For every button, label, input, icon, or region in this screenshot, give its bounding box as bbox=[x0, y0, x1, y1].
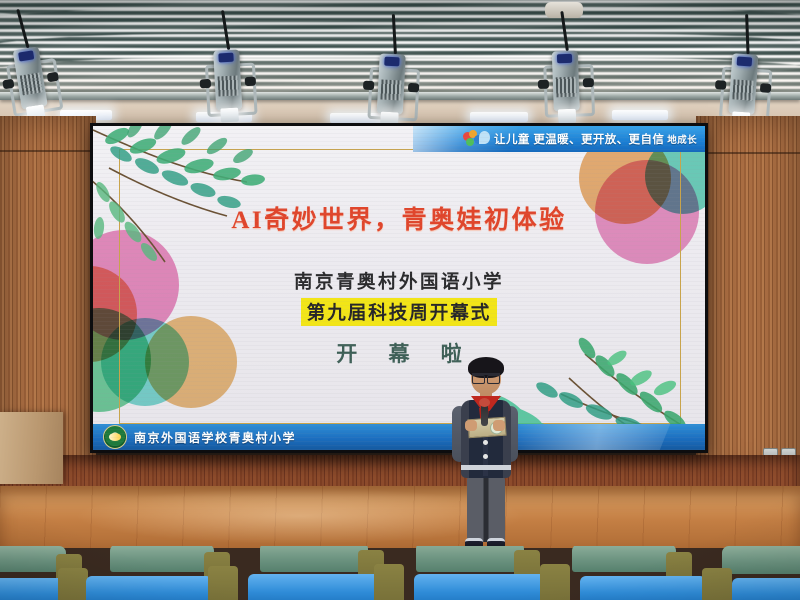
side-podium bbox=[0, 412, 63, 484]
seat bbox=[540, 564, 570, 600]
banner-slogan: 让儿童 更温暖、更开放、更自信 地成长 bbox=[494, 131, 697, 147]
seat bbox=[110, 546, 214, 572]
seat bbox=[374, 564, 404, 600]
ceiling-panel-light bbox=[612, 110, 668, 120]
slide-subtitle-highlight: 第九届科技周开幕式 bbox=[301, 298, 498, 326]
glasses-icon bbox=[472, 373, 500, 382]
seat bbox=[580, 576, 706, 600]
light-display-icon bbox=[218, 53, 233, 63]
slide-opening-text: 开 幕 啦 bbox=[93, 338, 705, 368]
light-knob bbox=[2, 79, 14, 90]
watercolor-leaves-top-left bbox=[93, 126, 317, 270]
seat bbox=[572, 546, 676, 572]
seat bbox=[58, 568, 88, 600]
student-presenter bbox=[437, 360, 533, 555]
slide-school-name: 南京青奥村外国语小学 bbox=[93, 268, 705, 294]
seat bbox=[208, 566, 238, 600]
audience-seating bbox=[0, 546, 800, 600]
slide-top-banner: 让儿童 更温暖、更开放、更自信 地成长 bbox=[413, 126, 705, 152]
school-full-name: 南京外国语学校青奥村小学 bbox=[134, 429, 296, 446]
microphone bbox=[481, 404, 488, 426]
colored-circles-logo-icon bbox=[463, 130, 489, 148]
seat bbox=[260, 546, 368, 572]
light-display-icon bbox=[557, 54, 572, 64]
slide-main-title: AI奇妙世界，青奥娃初体验 bbox=[93, 200, 705, 236]
school-emblem-icon bbox=[103, 425, 127, 449]
student-jacket-stripe bbox=[461, 465, 511, 470]
student-hand-right bbox=[493, 420, 505, 431]
projection-screen[interactable]: 让儿童 更温暖、更开放、更自信 地成长 AI奇妙世界，青奥娃初体验 南京青奥村外… bbox=[90, 123, 708, 453]
seat bbox=[416, 546, 524, 572]
slide-bottom-banner: 南京外国语学校青奥村小学 bbox=[93, 424, 705, 450]
auditorium-photo: 让儿童 更温暖、更开放、更自信 地成长 AI奇妙世界，青奥娃初体验 南京青奥村外… bbox=[0, 0, 800, 600]
slide-content: 让儿童 更温暖、更开放、更自信 地成长 AI奇妙世界，青奥娃初体验 南京青奥村外… bbox=[93, 126, 705, 450]
light-display-icon bbox=[384, 57, 399, 67]
seat bbox=[414, 574, 546, 600]
student-hand-left bbox=[465, 420, 477, 431]
seat bbox=[732, 578, 800, 600]
light-display-icon bbox=[737, 57, 753, 67]
seat bbox=[702, 568, 732, 600]
light-grille bbox=[20, 73, 43, 96]
seat bbox=[722, 546, 800, 574]
stage-light-4 bbox=[540, 46, 593, 126]
light-knob bbox=[47, 72, 59, 83]
stage-light-3 bbox=[364, 49, 418, 130]
ceiling-panel-light bbox=[470, 112, 528, 122]
stage-light-2 bbox=[201, 45, 255, 126]
wood-slat-wall-right bbox=[696, 116, 800, 486]
seat bbox=[248, 574, 380, 600]
microphone-head bbox=[479, 398, 490, 407]
student-legs bbox=[467, 476, 505, 542]
wooden-stage-floor bbox=[0, 486, 800, 548]
seat bbox=[86, 576, 212, 600]
